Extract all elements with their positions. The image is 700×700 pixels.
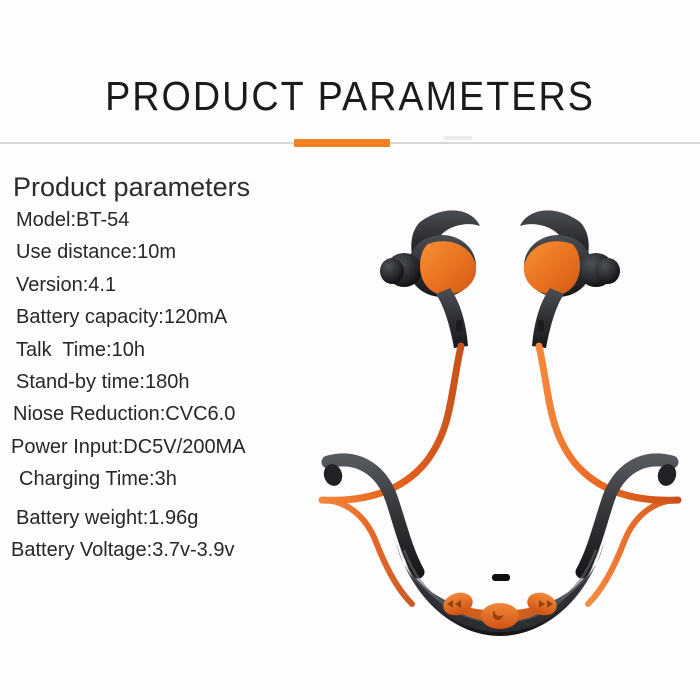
spec-row-version: Version:4.1 <box>0 269 330 301</box>
left-earbud <box>380 210 480 348</box>
spec-row-power-input: Power Input:DC5V/200MA <box>0 431 330 463</box>
spec-row-talk-time: Talk Time:10h <box>0 334 330 366</box>
spec-row-model: Model:BT-54 <box>0 204 330 236</box>
spec-row-battery-weight: Battery weight:1.96g <box>0 502 330 534</box>
power-call-button <box>481 603 519 629</box>
product-image <box>300 170 700 660</box>
power-glyph <box>493 611 495 617</box>
specifications-block: Product parameters Model:BT-54 Use dista… <box>0 170 330 566</box>
page-title: PRODUCT PARAMETERS <box>28 72 672 120</box>
charging-port <box>492 574 510 581</box>
left-cable <box>322 346 461 500</box>
product-parameters-page: PRODUCT PARAMETERS Product parameters Mo… <box>0 0 700 700</box>
spec-row-charging-time: Charging Time:3h <box>0 463 330 495</box>
specifications-list: Model:BT-54 Use distance:10m Version:4.1… <box>0 204 330 566</box>
spec-row-use-distance: Use distance:10m <box>0 236 330 268</box>
spec-row-noise-reduction: Niose Reduction:CVC6.0 <box>0 398 330 430</box>
right-cable <box>539 346 678 500</box>
divider-artifact <box>444 136 472 140</box>
specifications-heading: Product parameters <box>0 170 330 204</box>
spec-row-standby-time: Stand-by time:180h <box>0 366 330 398</box>
header-accent-bar <box>294 139 390 147</box>
spec-row-battery-capacity: Battery capacity:120mA <box>0 301 330 333</box>
right-earbud <box>520 210 620 348</box>
spec-row-battery-voltage: Battery Voltage:3.7v-3.9v <box>0 534 330 566</box>
